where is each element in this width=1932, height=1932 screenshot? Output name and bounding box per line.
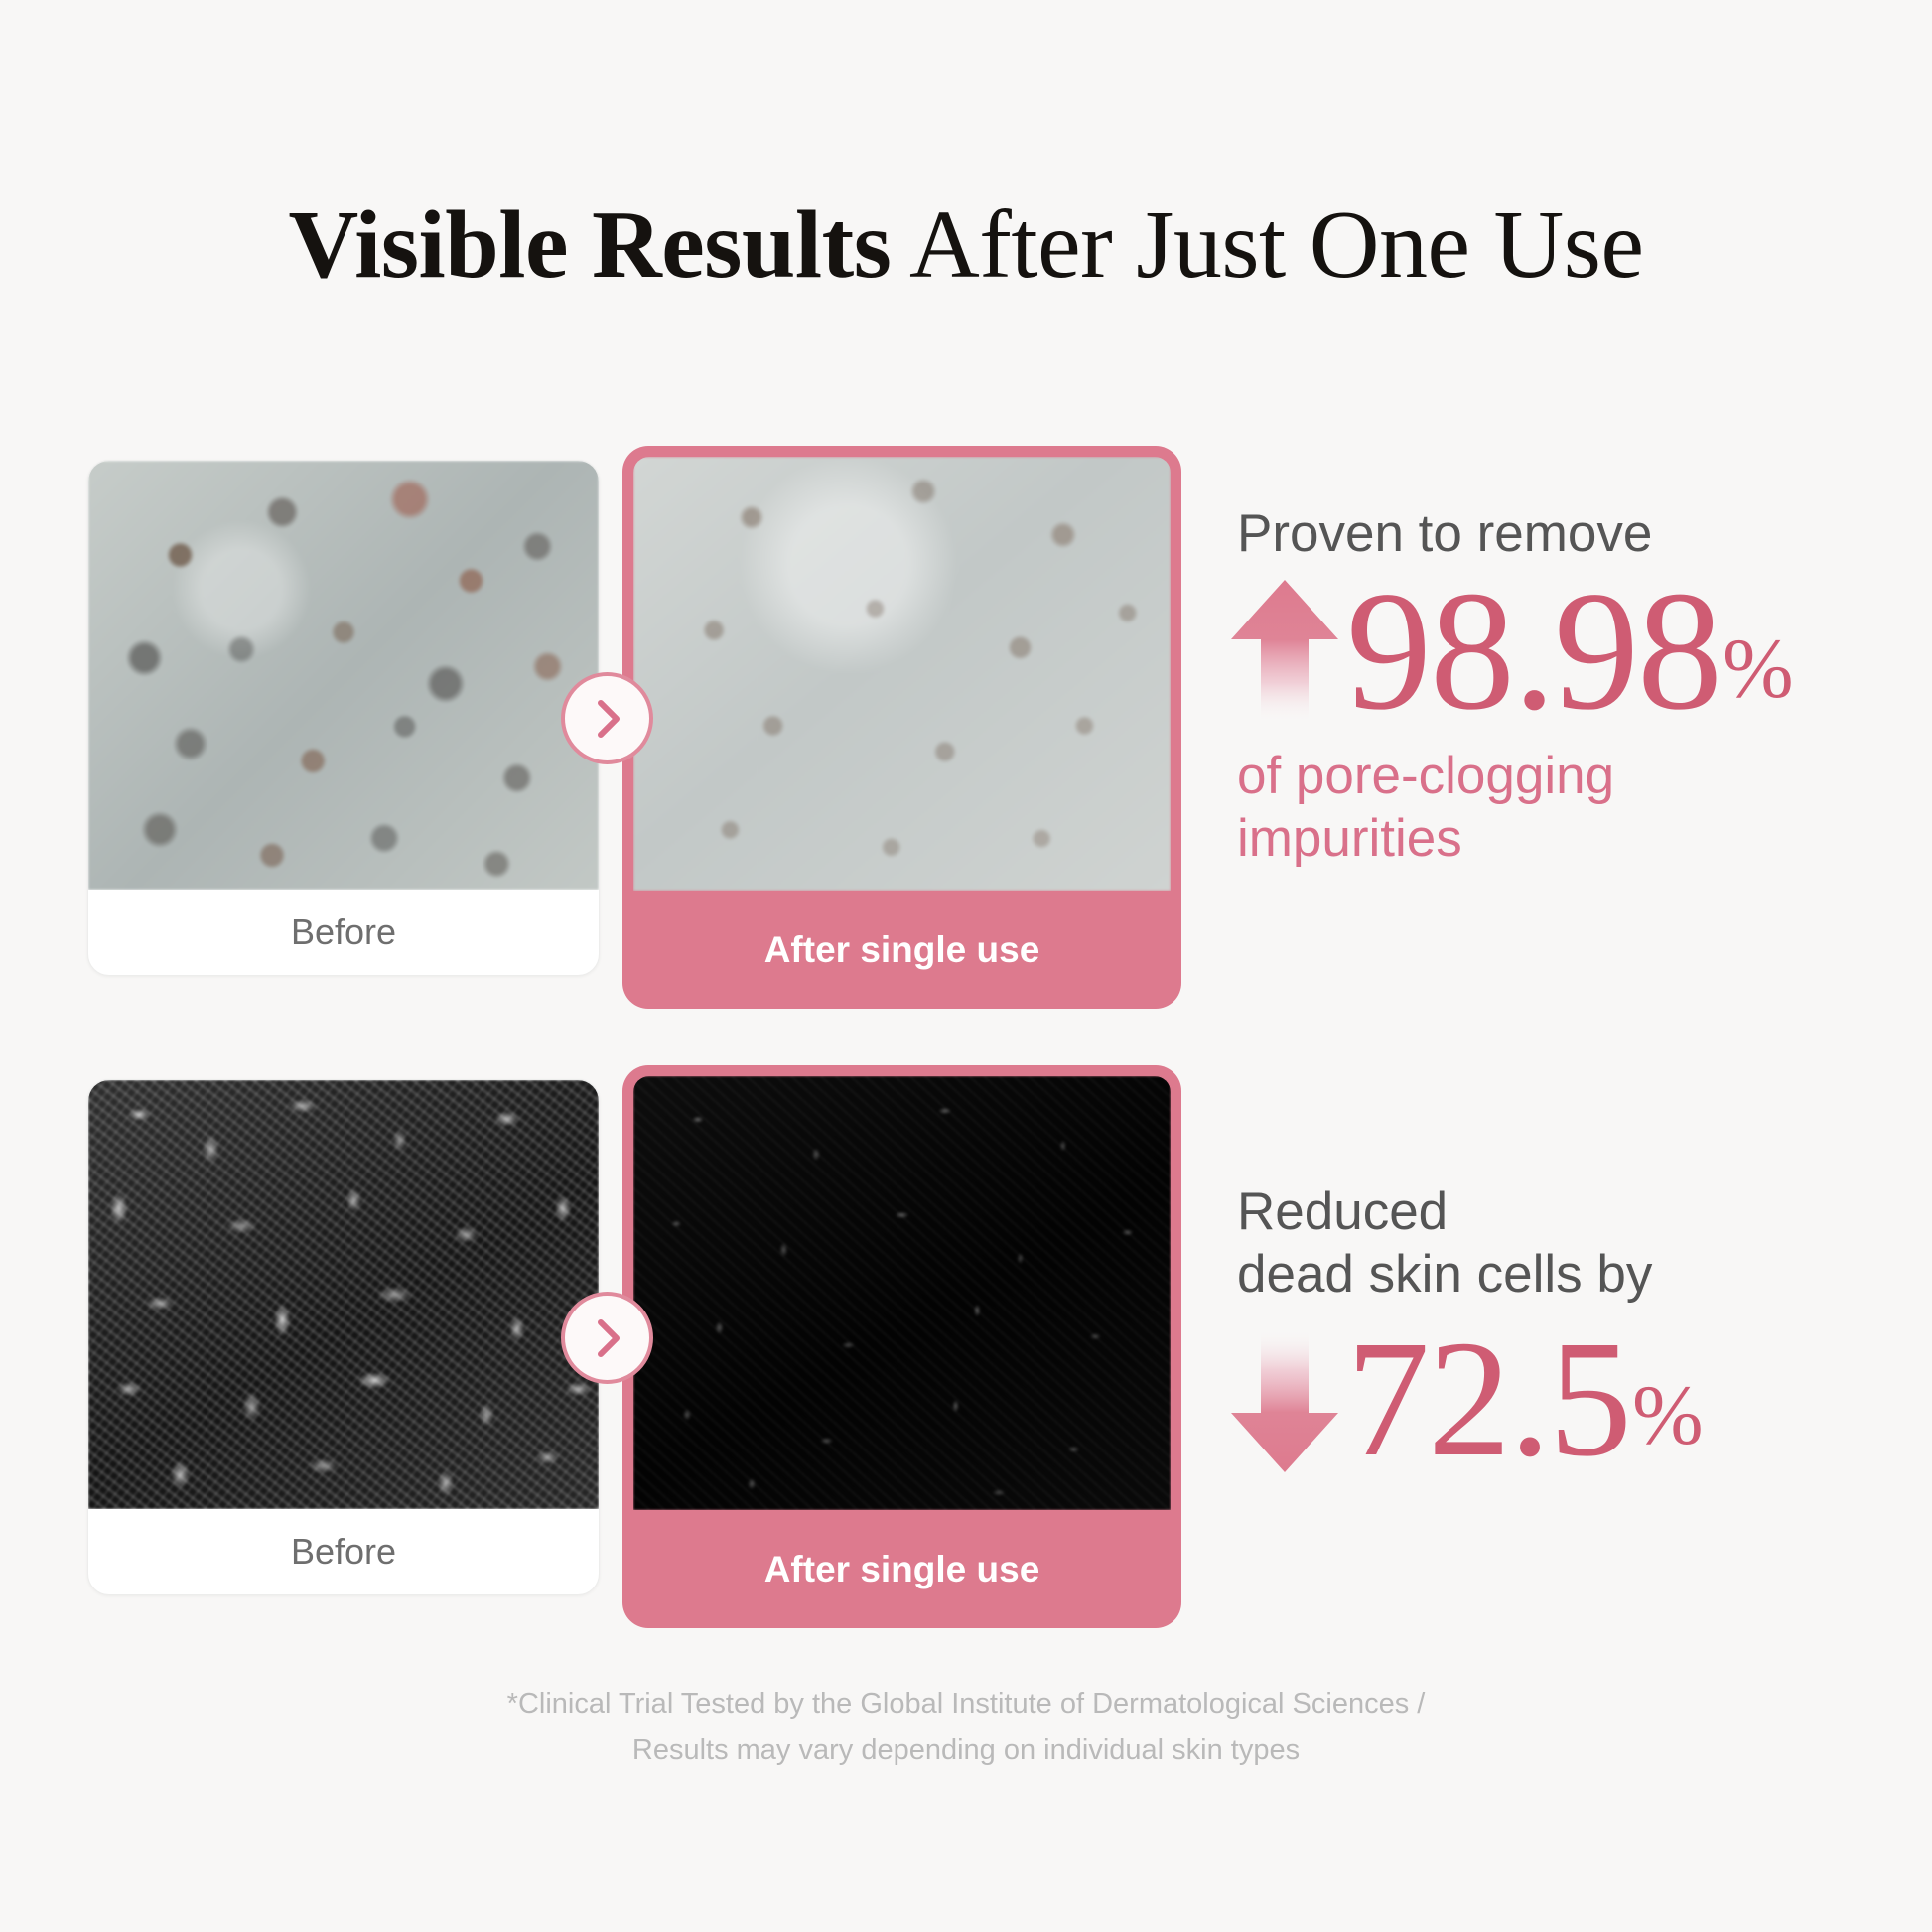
before-image-1 [88, 461, 599, 890]
stat-tail-1: of pore-clogging impurities [1237, 746, 1892, 870]
arrow-up-icon [1227, 574, 1342, 723]
page-title: Visible Results After Just One Use [0, 195, 1932, 297]
footnote-disclaimer: *Clinical Trial Tested by the Global Ins… [0, 1681, 1932, 1774]
stat-figure-1: 98.98 % [1227, 572, 1892, 733]
before-after-pair: Before After single use [87, 1079, 1181, 1620]
chevron-right-icon [561, 1292, 653, 1384]
skin-texture-after-2 [633, 1076, 1171, 1510]
stat-number-1: 98.98 [1346, 572, 1721, 733]
after-card-1: After single use [622, 446, 1181, 1009]
before-card-1: Before [87, 460, 600, 976]
before-card-2: Before [87, 1079, 600, 1595]
after-card-2: After single use [622, 1065, 1181, 1628]
stat-figure-2: 72.5 % [1227, 1321, 1892, 1478]
stat-percent-1: % [1723, 619, 1794, 732]
before-caption-1: Before [88, 890, 599, 975]
stat-block-2: Reduced dead skin cells by 72.5 % [1237, 1181, 1892, 1478]
before-caption-2: Before [88, 1509, 599, 1594]
after-caption-1: After single use [633, 891, 1171, 1009]
skin-texture-after-1 [633, 457, 1171, 891]
stat-number-2: 72.5 [1346, 1321, 1630, 1478]
after-image-2 [633, 1076, 1171, 1510]
after-image-1 [633, 457, 1171, 891]
arrow-down-icon [1227, 1329, 1342, 1478]
after-caption-2: After single use [633, 1510, 1171, 1628]
comparison-row-1: Before After single use [87, 460, 1181, 1001]
skin-texture-before-2 [88, 1080, 599, 1509]
chevron-right-icon [561, 672, 653, 764]
page-title-bold: Visible Results [289, 192, 892, 299]
before-after-pair: Before After single use [87, 460, 1181, 1001]
page-title-light: After Just One Use [891, 192, 1643, 299]
stat-block-1: Proven to remove 98.98 % of pore-cloggin… [1237, 503, 1892, 870]
before-image-2 [88, 1080, 599, 1509]
comparison-row-2: Before After single use [87, 1079, 1181, 1620]
stat-lead-2: Reduced dead skin cells by [1237, 1181, 1892, 1306]
skin-texture-before-1 [88, 461, 599, 890]
promo-page: Visible Results After Just One Use Befor… [0, 0, 1932, 1932]
stat-percent-2: % [1632, 1365, 1704, 1478]
